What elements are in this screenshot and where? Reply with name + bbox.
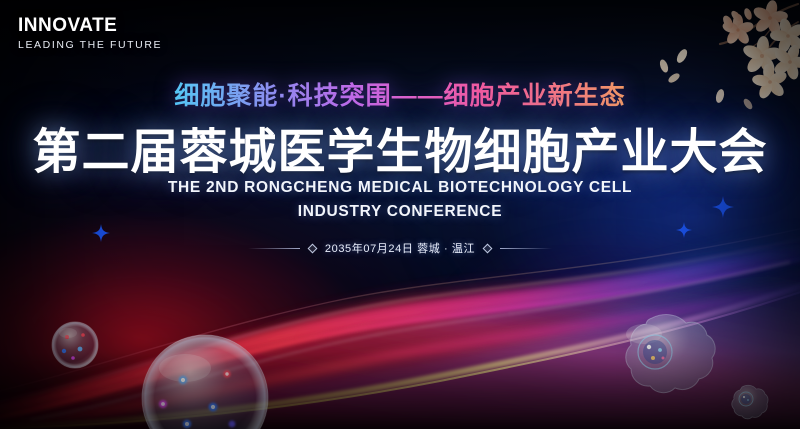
page-title: 第二届蓉城医学生物细胞产业大会 [0, 112, 800, 182]
brand-logo: INNOVATE LEADING THE FUTURE [18, 16, 162, 51]
logo-tagline: LEADING THE FUTURE [18, 40, 162, 51]
title-english-line-2: INDUSTRY CONFERENCE [0, 200, 800, 224]
event-date-row: 2035年07月24日 蓉城 · 温江 [0, 240, 800, 256]
title-english-line-1: THE 2ND RONGCHENG MEDICAL BIOTECHNOLOGY … [0, 176, 800, 200]
diamond-marker-left-icon [307, 243, 317, 253]
subtitle-chinese: 细胞聚能·科技突围——细胞产业新生态 [0, 76, 800, 112]
cell-blob-large-right [626, 315, 715, 393]
cell-blob-small-right [732, 385, 768, 419]
logo-name: INNOVATE [18, 16, 162, 35]
cell-sphere-large-left [142, 335, 268, 429]
cell-sphere-small-left [52, 322, 98, 368]
conference-poster: INNOVATE LEADING THE FUTURE 细胞聚能·科技突围——细… [0, 0, 800, 429]
title-english: THE 2ND RONGCHENG MEDICAL BIOTECHNOLOGY … [0, 176, 800, 224]
date-rule-right [500, 248, 552, 249]
date-rule-left [248, 248, 300, 249]
diamond-marker-right-icon [483, 243, 493, 253]
event-date-location: 2035年07月24日 蓉城 · 温江 [325, 240, 475, 256]
